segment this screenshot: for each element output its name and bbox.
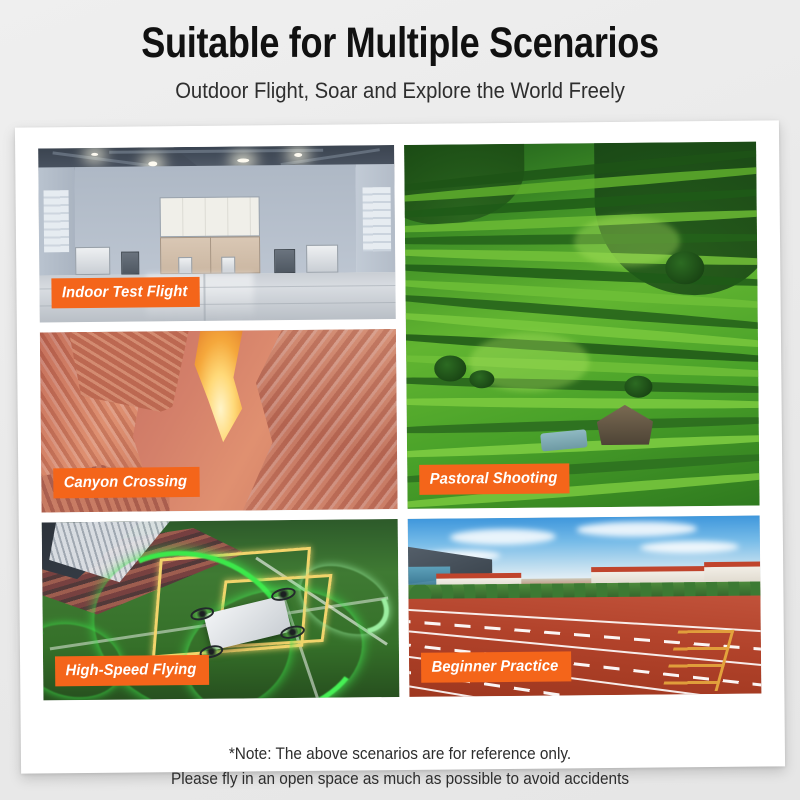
scenario-tile-high-speed-flying[interactable]: High-Speed Flying — [42, 519, 400, 700]
scenario-tile-beginner-practice[interactable]: Beginner Practice — [408, 516, 762, 697]
scenario-gallery-card: Indoor Test Flight — [15, 120, 785, 773]
rice-terrace-photo — [404, 142, 759, 509]
scenario-tile-indoor-test-flight[interactable]: Indoor Test Flight — [38, 145, 396, 322]
footnote-line-1: *Note: The above scenarios are for refer… — [28, 742, 772, 767]
page-title: Suitable for Multiple Scenarios — [64, 18, 736, 68]
footnote: *Note: The above scenarios are for refer… — [28, 742, 772, 792]
scenario-tile-pastoral-shooting[interactable]: Pastoral Shooting — [404, 142, 759, 509]
footnote-line-2: Please fly in an open space as much as p… — [28, 767, 772, 792]
scenario-label-beginner-practice: Beginner Practice — [421, 651, 571, 683]
scenario-label-canyon-crossing: Canyon Crossing — [53, 466, 199, 498]
scenario-label-high-speed-flying: High-Speed Flying — [55, 654, 209, 686]
scenario-label-indoor-test-flight: Indoor Test Flight — [51, 276, 200, 308]
page-subtitle: Outdoor Flight, Soar and Explore the Wor… — [32, 76, 768, 106]
page-header: Suitable for Multiple Scenarios Outdoor … — [0, 0, 800, 122]
scenario-tile-canyon-crossing[interactable]: Canyon Crossing — [40, 329, 398, 512]
scenario-tile-grid: Indoor Test Flight — [38, 142, 761, 721]
scenario-label-pastoral-shooting: Pastoral Shooting — [419, 463, 570, 495]
